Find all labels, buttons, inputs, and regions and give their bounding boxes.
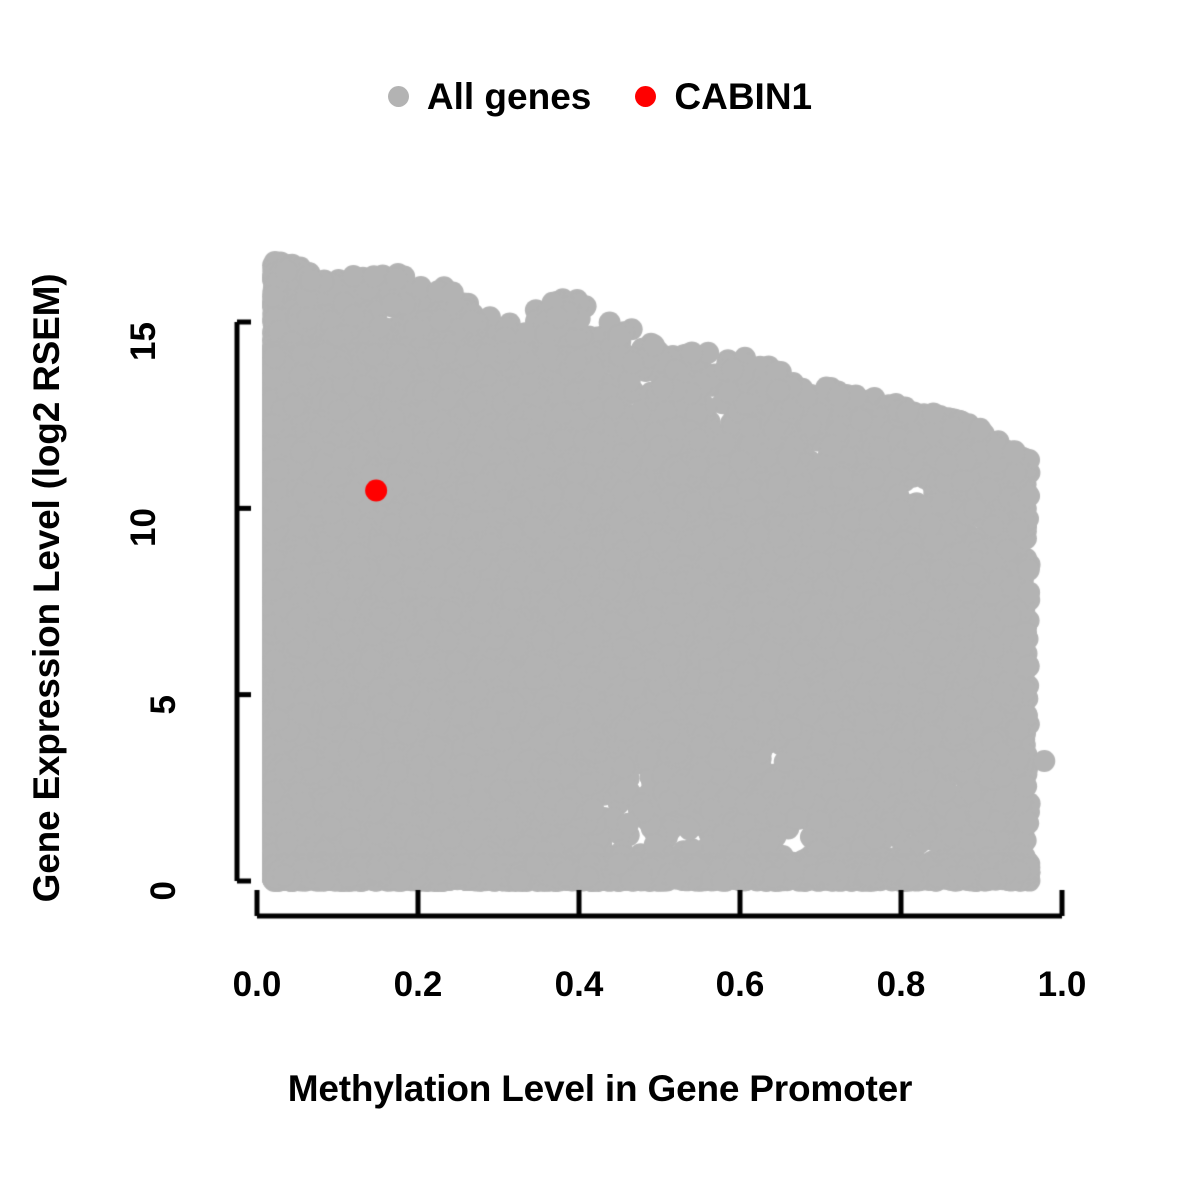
x-tick-label-0: 0.0 [233, 965, 282, 1005]
legend-label-all-genes: All genes [427, 78, 592, 115]
scatter-plot-figure: All genes CABIN1 Methylation Level in Ge… [0, 0, 1200, 1200]
legend-marker-all-genes-icon [388, 86, 409, 107]
y-tick-label-0: 0 [144, 881, 184, 900]
legend-entry-cabin1: CABIN1 [635, 78, 812, 115]
x-tick-label-2: 0.4 [555, 965, 604, 1005]
x-tick-label-1: 0.2 [394, 965, 443, 1005]
chart-legend: All genes CABIN1 [0, 78, 1200, 115]
x-axis-title: Methylation Level in Gene Promoter [0, 1068, 1200, 1110]
y-tick-label-2: 10 [124, 508, 164, 547]
y-tick-label-3: 15 [124, 322, 164, 361]
scatter-plot-canvas [0, 0, 1200, 1200]
legend-marker-cabin1-icon [635, 86, 656, 107]
y-tick-label-1: 5 [144, 695, 184, 714]
y-axis-title: Gene Expression Level (log2 RSEM) [26, 158, 68, 1018]
x-tick-label-3: 0.6 [716, 965, 765, 1005]
x-tick-label-5: 1.0 [1038, 965, 1087, 1005]
legend-entry-all-genes: All genes [388, 78, 592, 115]
x-tick-label-4: 0.8 [877, 965, 926, 1005]
legend-label-cabin1: CABIN1 [674, 78, 812, 115]
